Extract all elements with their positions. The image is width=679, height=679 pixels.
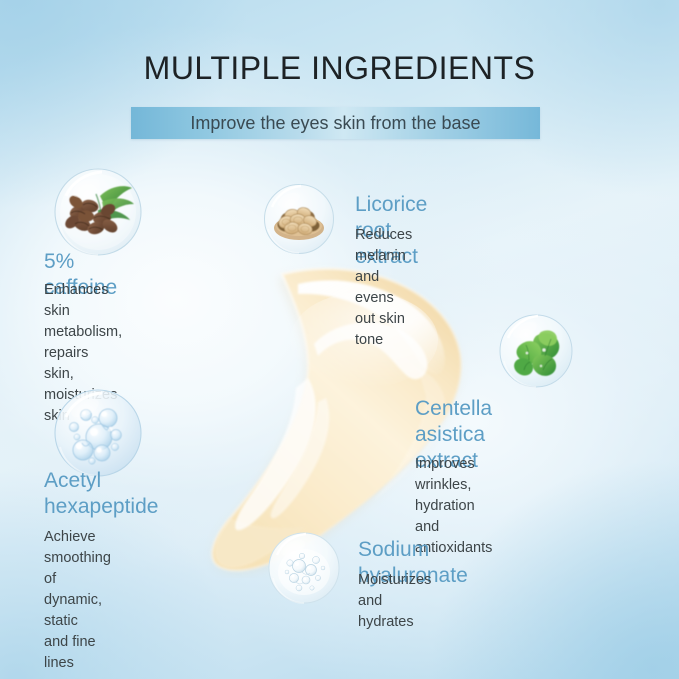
clear-gel-dish-icon (266, 530, 342, 606)
ingredient-heading: Acetyl hexapeptide (44, 468, 158, 520)
subtitle-text: Improve the eyes skin from the base (131, 107, 540, 139)
coffee-beans-dish-icon (52, 166, 144, 258)
background-tint-top-right (449, 0, 679, 200)
green-leaves-dish-icon (497, 312, 575, 390)
ingredients-infographic: MULTIPLE INGREDIENTS Improve the eyes sk… (0, 0, 679, 679)
ingredient-description: Reduces melanin and evens out skin tone (355, 225, 412, 351)
licorice-root-dish-icon (262, 182, 336, 256)
ingredient-description: Achieve smoothing of dynamic, static and… (44, 527, 111, 674)
water-bubbles-dish-icon (52, 387, 144, 479)
ingredient-description: Moisturizes and hydrates (358, 570, 431, 633)
page-title: MULTIPLE INGREDIENTS (0, 50, 679, 87)
